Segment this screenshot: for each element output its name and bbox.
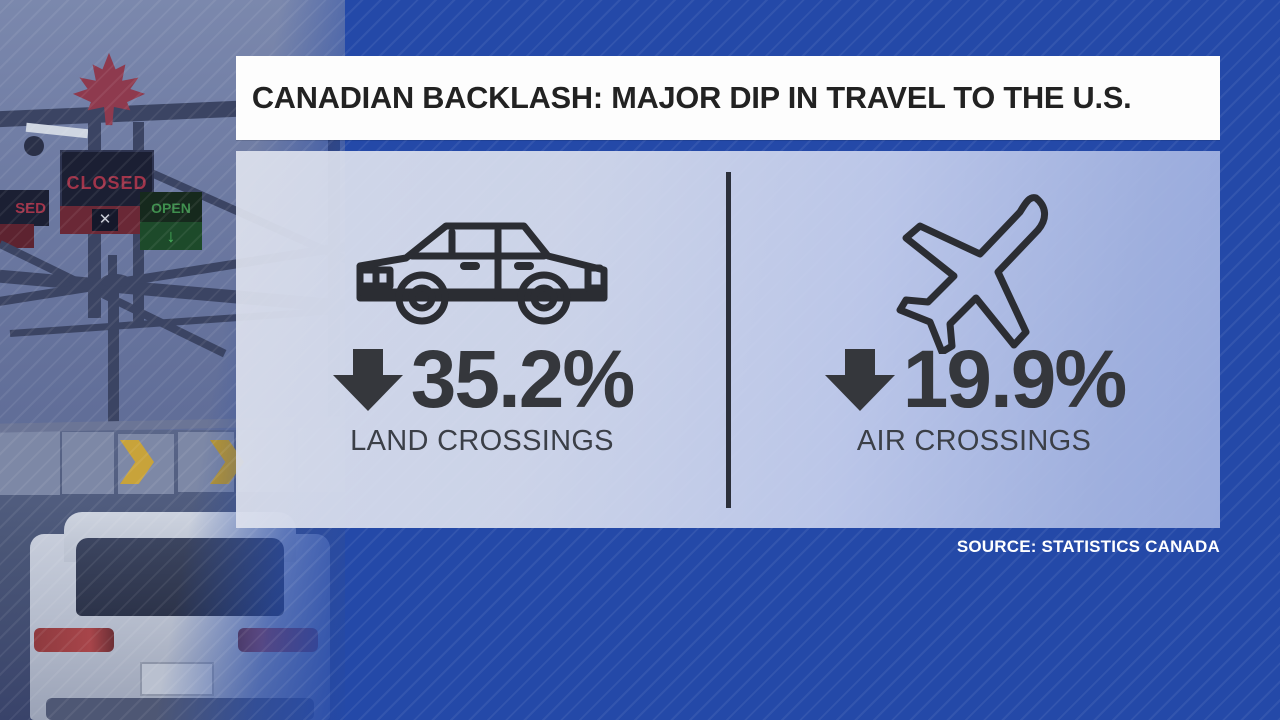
stat-value-row: 35.2% [331,343,634,417]
car-icon [348,205,616,337]
stat-value-row: 19.9% [823,343,1126,417]
source-attribution: SOURCE: STATISTICS CANADA [957,537,1220,557]
arrow-down-icon [823,347,897,413]
page-title: CANADIAN BACKLASH: MAJOR DIP IN TRAVEL T… [236,80,1131,116]
stat-value: 35.2% [411,343,634,417]
airplane-icon [886,205,1062,337]
stat-label: AIR CROSSINGS [857,425,1091,458]
stats-panel: 35.2% LAND CROSSINGS 19.9% AIR CROSSINGS [236,151,1220,528]
stat-land-crossings: 35.2% LAND CROSSINGS [236,151,728,528]
stat-air-crossings: 19.9% AIR CROSSINGS [728,151,1220,528]
stat-value: 19.9% [903,343,1126,417]
stat-label: LAND CROSSINGS [350,425,614,458]
news-graphic-screen: CLOSED ✕ SED OPEN ↓ [0,0,1280,720]
headline-bar: CANADIAN BACKLASH: MAJOR DIP IN TRAVEL T… [236,56,1220,140]
arrow-down-icon [331,347,405,413]
